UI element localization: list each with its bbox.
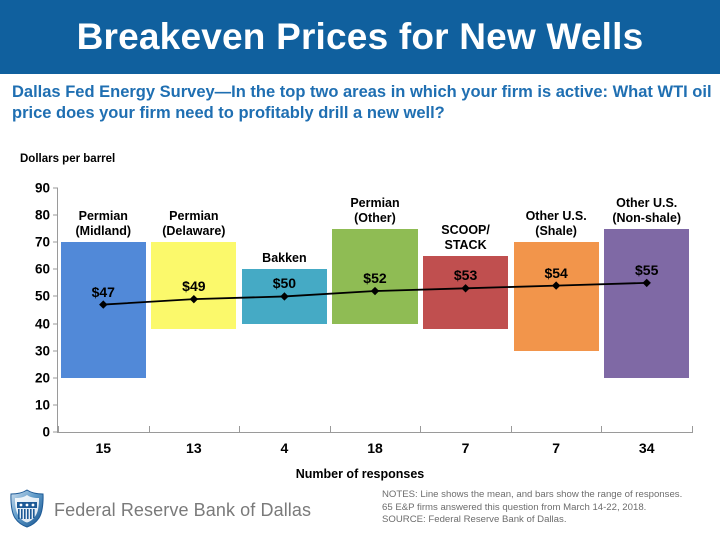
x-axis-separator	[692, 426, 693, 433]
y-axis-tick-label: 50	[16, 289, 50, 304]
y-axis-tick-label: 10	[16, 397, 50, 412]
bar-category-label: SCOOP/ STACK	[414, 223, 517, 253]
notes-line-3: SOURCE: Federal Reserve Bank of Dallas.	[382, 514, 720, 527]
range-bar	[604, 229, 689, 378]
bar-category-label: Other U.S. (Non-shale)	[595, 196, 698, 226]
bar-mean-value-label: $54	[511, 265, 602, 281]
bar-category-label: Permian (Delaware)	[143, 209, 246, 239]
bar-category-label: Bakken	[233, 251, 336, 266]
x-axis-separator	[511, 426, 512, 433]
survey-question-subtitle: Dallas Fed Energy Survey—In the top two …	[12, 82, 712, 124]
y-axis-tick-label: 20	[16, 370, 50, 385]
bar-mean-value-label: $52	[330, 270, 421, 286]
page-title: Breakeven Prices for New Wells	[0, 0, 720, 74]
notes-line-2: 65 E&P firms answered this question from…	[382, 502, 720, 515]
y-axis-unit-label: Dollars per barrel	[20, 153, 115, 165]
x-axis-tick-label: 4	[239, 440, 330, 456]
y-axis-tick-label: 70	[16, 235, 50, 250]
notes-line-1: NOTES: Line shows the mean, and bars sho…	[382, 489, 720, 502]
x-axis-separator	[420, 426, 421, 433]
x-axis-separator	[149, 426, 150, 433]
y-axis-tick-label: 60	[16, 262, 50, 277]
bar-category-label: Permian (Midland)	[52, 209, 155, 239]
footer-logo-text: Federal Reserve Bank of Dallas	[54, 500, 311, 521]
bar-mean-value-label: $50	[239, 275, 330, 291]
bar-mean-value-label: $49	[149, 278, 240, 294]
range-bar	[61, 242, 146, 378]
slide-root: Breakeven Prices for New Wells Dallas Fe…	[0, 0, 720, 536]
y-axis-tick-mark	[53, 269, 58, 270]
x-axis-tick-label: 7	[420, 440, 511, 456]
range-bar	[514, 242, 599, 350]
y-axis-tick-label: 80	[16, 208, 50, 223]
y-axis-tick-mark	[53, 188, 58, 189]
y-axis-tick-label: 40	[16, 316, 50, 331]
x-axis-separator	[58, 426, 59, 433]
y-axis-tick-mark	[53, 323, 58, 324]
bar-mean-value-label: $55	[601, 262, 692, 278]
x-axis-tick-label: 15	[58, 440, 149, 456]
bar-mean-value-label: $53	[420, 267, 511, 283]
bar-category-label: Other U.S. (Shale)	[505, 209, 608, 239]
bar-mean-value-label: $47	[58, 284, 149, 300]
y-axis-tick-label: 0	[16, 425, 50, 440]
footer-branding: Federal Reserve Bank of Dallas	[8, 488, 311, 533]
y-axis-tick-label: 90	[16, 181, 50, 196]
footer-notes: NOTES: Line shows the mean, and bars sho…	[382, 489, 720, 527]
x-axis-title: Number of responses	[0, 467, 720, 481]
bar-category-label: Permian (Other)	[324, 196, 427, 226]
x-axis-line	[57, 432, 693, 433]
x-axis-separator	[330, 426, 331, 433]
y-axis-tick-mark	[53, 350, 58, 351]
x-axis-tick-label: 34	[601, 440, 692, 456]
x-axis-tick-label: 13	[149, 440, 240, 456]
x-axis-tick-label: 7	[511, 440, 602, 456]
y-axis-tick-mark	[53, 377, 58, 378]
frb-dallas-eagle-shield-icon	[8, 488, 46, 533]
x-axis-separator	[601, 426, 602, 433]
y-axis-tick-mark	[53, 242, 58, 243]
y-axis-tick-mark	[53, 404, 58, 405]
y-axis-tick-label: 30	[16, 343, 50, 358]
x-axis-separator	[239, 426, 240, 433]
x-axis-tick-label: 18	[330, 440, 421, 456]
